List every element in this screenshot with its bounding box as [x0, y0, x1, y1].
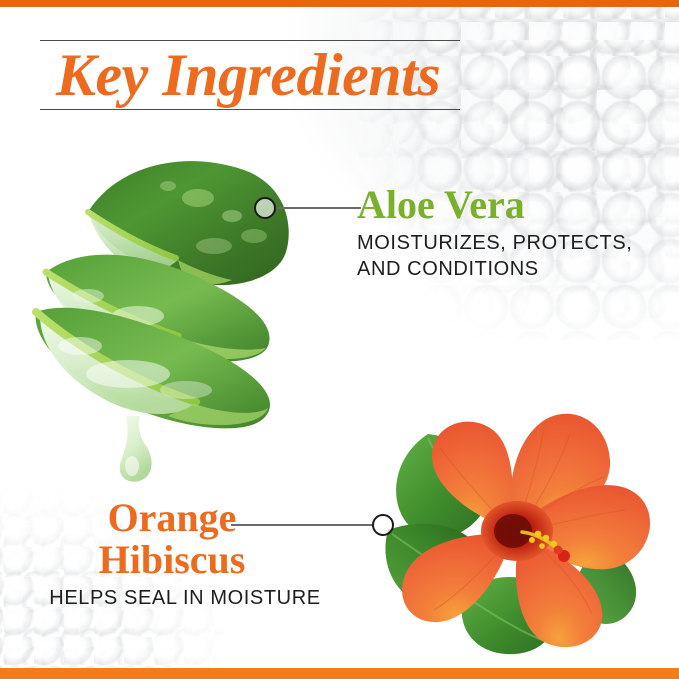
ingredient-name-line: Hibiscus [30, 539, 370, 581]
ingredient-description-line: AND CONDITIONS [357, 256, 657, 282]
ingredient-description-aloe-vera: MOISTURIZES, PROTECTS, AND CONDITIONS [357, 230, 657, 282]
key-ingredients-infographic: Key Ingredients [0, 0, 679, 679]
top-orange-bar [0, 0, 679, 7]
callout-marker-hibiscus [372, 514, 394, 536]
aloe-vera-image [18, 140, 298, 485]
page-title-block: Key Ingredients [40, 40, 460, 110]
ingredient-name-aloe-vera: Aloe Vera [357, 183, 657, 227]
ingredient-name-line: Orange [30, 497, 370, 539]
ingredient-name-orange-hibiscus: Orange Hibiscus [30, 497, 370, 581]
ingredient-description-orange-hibiscus: HELPS SEAL IN MOISTURE [30, 585, 370, 611]
page-title: Key Ingredients [40, 41, 460, 109]
ingredient-description-line: MOISTURIZES, PROTECTS, [357, 230, 657, 256]
ingredient-callout-aloe-vera: Aloe Vera MOISTURIZES, PROTECTS, AND CON… [357, 183, 657, 282]
ingredient-callout-orange-hibiscus: Orange Hibiscus HELPS SEAL IN MOISTURE [30, 497, 370, 611]
bottom-orange-bar [0, 668, 679, 679]
title-rule-bottom [40, 109, 460, 110]
connector-line-aloe [277, 207, 361, 209]
orange-hibiscus-image [372, 398, 662, 660]
callout-marker-aloe [254, 197, 276, 219]
